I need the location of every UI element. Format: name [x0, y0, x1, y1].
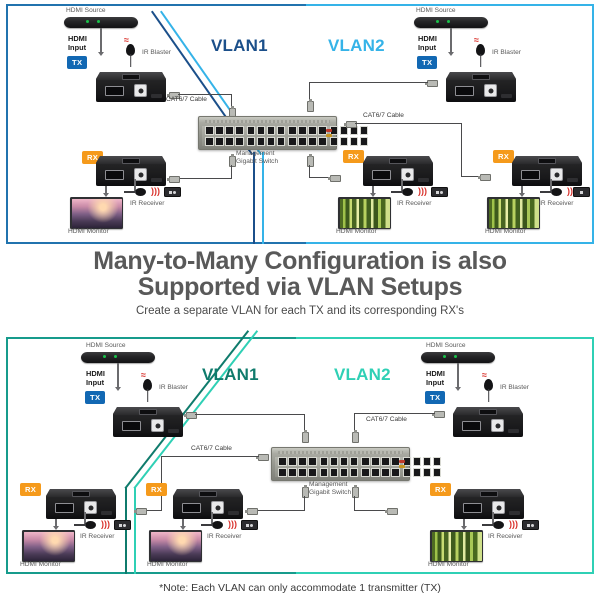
- hdmi-source-device: [421, 352, 495, 363]
- switch-port: [277, 137, 286, 146]
- cat-cable-connector-rx3: [480, 174, 491, 181]
- switch-port-group: [403, 457, 442, 477]
- hdmi-input-line2: Input: [86, 378, 104, 387]
- switch-port-group: [288, 126, 327, 146]
- hdmi-input-label: HDMI Input: [86, 369, 105, 387]
- switch-port-group: [320, 457, 359, 477]
- remote-key: [246, 524, 249, 527]
- cat-cable-wire-long: [355, 123, 461, 124]
- rx-extender-label-plate: [418, 178, 429, 182]
- ir-remote-icon: [431, 187, 448, 197]
- ir-blaster-label: IR Blaster: [492, 49, 521, 56]
- tx-extender-ir-jack: [484, 84, 497, 97]
- rx-badge: RX: [146, 483, 167, 496]
- hdmi-input-line2: Input: [68, 43, 86, 52]
- rx-extender-ir-port: [389, 158, 407, 164]
- rx-extender-ir-jack: [211, 501, 224, 514]
- hdmi-monitor-device: [338, 197, 391, 229]
- switch-label-line2: Gigabit Switch: [236, 158, 278, 165]
- tx-extender-hdmi-port: [455, 86, 474, 96]
- vlan1-label-top: VLAN1: [211, 36, 268, 56]
- rx-badge: RX: [343, 150, 364, 163]
- switch-port-row: [278, 457, 317, 466]
- cat-cable-wire-rx-drop: [304, 496, 305, 511]
- cat-cable-connector-rx3: [387, 508, 398, 515]
- monitor-screen: [340, 199, 390, 228]
- switch-port: [340, 137, 349, 146]
- ir-blaster-icon: [126, 44, 135, 56]
- rx-extender-label-plate: [509, 511, 520, 515]
- switch-vent: [205, 120, 330, 123]
- hdmi-input-arrow: [448, 52, 454, 56]
- ir-blaster-icon: [484, 379, 493, 391]
- switch-label: Management Gigabit Switch: [236, 150, 278, 166]
- vlan-divider-vertical-dark: [125, 487, 127, 574]
- ir-receiver-label: IR Receiver: [539, 200, 573, 207]
- vlan2-label-bottom: VLAN2: [334, 365, 391, 385]
- switch-port: [413, 457, 422, 466]
- tx-extender-ir-jack: [491, 419, 504, 432]
- tx-extender-label-plate: [168, 429, 179, 433]
- rx-extender-device: [363, 156, 433, 186]
- cat-cable-wire-rx3: [354, 510, 388, 511]
- tx-extender-ir-jack: [134, 84, 147, 97]
- ir-receiver-label: IR Receiver: [80, 533, 114, 540]
- cat-cable-connector-switch-3: [307, 101, 314, 112]
- switch-port-row: [247, 126, 286, 135]
- cat-cable-wire-long: [161, 456, 259, 457]
- hdmi-input-arrow: [115, 387, 121, 391]
- ir-remote-icon: [241, 520, 258, 530]
- hdmi-monitor-device: [487, 197, 540, 229]
- tx-extender-ir-port: [479, 409, 497, 415]
- switch-port: [215, 137, 224, 146]
- switch-port: [423, 468, 432, 477]
- hdmi-input-label: HDMI Input: [426, 369, 445, 387]
- tx-extender-ir-port: [122, 74, 140, 80]
- tx-extender-hdmi-port: [462, 421, 481, 431]
- cat-cable-wire-tx: [195, 414, 305, 415]
- hdmi-source-label: HDMI Source: [416, 7, 456, 14]
- hdmi-source-device: [414, 17, 488, 28]
- hdmi-monitor-label: HDMI Monitor: [68, 228, 109, 235]
- switch-port: [288, 137, 297, 146]
- ir-remote-icon: [164, 187, 181, 197]
- cat-cable-connector-rx2: [247, 508, 258, 515]
- switch-port: [330, 468, 339, 477]
- switch-port: [257, 137, 266, 146]
- switch-label-line1: Management: [236, 150, 275, 157]
- heading-subtitle: Create a separate VLAN for each TX and i…: [0, 305, 600, 317]
- rx-badge: RX: [20, 483, 41, 496]
- switch-port: [308, 126, 317, 135]
- monitor-screen: [24, 532, 74, 561]
- tx-badge: TX: [67, 56, 87, 69]
- tx-extender-ir-jack: [151, 419, 164, 432]
- ir-remote-icon: [114, 520, 131, 530]
- rx-extender-hdmi-port: [372, 170, 391, 180]
- remote-key: [527, 524, 530, 527]
- ir-receiver-icon: [493, 521, 504, 529]
- switch-port: [278, 468, 287, 477]
- ir-receiver-icon: [135, 188, 146, 196]
- remote-key: [250, 524, 253, 527]
- switch-port: [371, 468, 380, 477]
- heading-line1: Many-to-Many Configuration is also: [0, 248, 600, 274]
- monitor-screen: [432, 532, 482, 561]
- rx-extender-ir-port: [199, 491, 217, 497]
- bottom-diagram-panel: VLAN1 VLAN2 HDMI Source HDMI Input TX ≈ …: [6, 337, 594, 574]
- rx-extender-device: [96, 156, 166, 186]
- rx-extender-device: [512, 156, 582, 186]
- monitor-screen: [151, 532, 201, 561]
- switch-port: [288, 457, 297, 466]
- switch-port: [308, 468, 317, 477]
- cat-cable-connector-tx2: [434, 411, 445, 418]
- ir-blaster-label: IR Blaster: [500, 384, 529, 391]
- remote-key: [173, 191, 176, 194]
- switch-port: [298, 468, 307, 477]
- remote-key: [580, 191, 583, 194]
- rx-extender-ir-port: [122, 158, 140, 164]
- switch-port-row: [320, 457, 359, 466]
- switch-port: [298, 457, 307, 466]
- switch-port: [215, 126, 224, 135]
- ir-receiver-wave-icon: ))): [151, 187, 160, 196]
- remote-key: [440, 191, 443, 194]
- cat-cable-connector-rx2: [330, 175, 341, 182]
- hdmi-monitor-device: [22, 530, 75, 562]
- hdmi-input-line2: Input: [426, 378, 444, 387]
- switch-led-cluster: [326, 129, 332, 137]
- switch-port: [308, 457, 317, 466]
- gigabit-switch-device: [198, 116, 337, 150]
- switch-port: [288, 126, 297, 135]
- rx-extender-ir-jack: [134, 168, 147, 181]
- heading-block: Many-to-Many Configuration is also Suppo…: [0, 248, 600, 317]
- switch-port-row: [403, 468, 442, 477]
- rx-extender-hdmi-port: [463, 503, 482, 513]
- rx-badge: RX: [493, 150, 514, 163]
- hdmi-monitor-label: HDMI Monitor: [336, 228, 377, 235]
- tx-extender-label-plate: [508, 429, 519, 433]
- switch-led: [326, 134, 332, 137]
- hdmi-source-label: HDMI Source: [66, 7, 106, 14]
- hdmi-input-line1: HDMI: [68, 34, 87, 43]
- tx-extender-device: [113, 407, 183, 437]
- ir-receiver-wave-icon: ))): [509, 520, 518, 529]
- switch-port-row: [247, 137, 286, 146]
- rx-extender-ir-jack: [84, 501, 97, 514]
- rx-extender-device: [46, 489, 116, 519]
- tx-badge: TX: [85, 391, 105, 404]
- switch-port: [350, 137, 359, 146]
- ir-blaster-icon: [476, 44, 485, 56]
- cat-cable-wire-tx2: [309, 82, 428, 83]
- tx-badge: TX: [425, 391, 445, 404]
- cat-cable-label-1: CAT6/7 Cable: [166, 96, 207, 103]
- switch-port: [298, 137, 307, 146]
- ir-receiver-wave-icon: ))): [418, 187, 427, 196]
- switch-port-row: [320, 468, 359, 477]
- switch-port: [235, 126, 244, 135]
- ir-remote-icon: [522, 520, 539, 530]
- rx-extender-ir-jack: [401, 168, 414, 181]
- hdmi-input-line1: HDMI: [418, 34, 437, 43]
- heading-line2: Supported via VLAN Setups: [0, 274, 600, 300]
- hdmi-source-label: HDMI Source: [86, 342, 126, 349]
- switch-front-face: [202, 126, 333, 146]
- gigabit-switch-device: [271, 447, 410, 481]
- vlan1-label-bottom: VLAN1: [202, 365, 259, 385]
- switch-port: [267, 126, 276, 135]
- switch-port-row: [288, 126, 327, 135]
- switch-port: [205, 126, 214, 135]
- switch-label: Management Gigabit Switch: [309, 481, 351, 497]
- hdmi-input-wire: [457, 363, 459, 388]
- hdmi-source-label: HDMI Source: [426, 342, 466, 349]
- rx-extender-hdmi-port: [521, 170, 540, 180]
- monitor-screen: [489, 199, 539, 228]
- tx-extender-device: [453, 407, 523, 437]
- rx-extender-device: [454, 489, 524, 519]
- rx-extender-label-plate: [567, 178, 578, 182]
- ir-receiver-label: IR Receiver: [130, 200, 164, 207]
- ir-receiver-label: IR Receiver: [207, 533, 241, 540]
- switch-label-line1: Management: [309, 481, 348, 488]
- remote-key: [436, 191, 439, 194]
- hdmi-input-line1: HDMI: [426, 369, 445, 378]
- cat-cable-wire-tx2: [354, 413, 435, 414]
- switch-port-row: [361, 468, 400, 477]
- switch-port: [298, 126, 307, 135]
- hdmi-monitor-label: HDMI Monitor: [20, 561, 61, 568]
- ir-receiver-label: IR Receiver: [488, 533, 522, 540]
- rx-extender-ir-port: [538, 158, 556, 164]
- switch-port: [350, 457, 359, 466]
- ir-blaster-icon: [143, 379, 152, 391]
- rx-extender-label-plate: [228, 511, 239, 515]
- cat-cable-label-2: CAT6/7 Cable: [363, 112, 404, 119]
- switch-port: [360, 137, 369, 146]
- cat-cable-connector-long: [258, 454, 269, 461]
- vlan2-label-top: VLAN2: [328, 36, 385, 56]
- remote-key: [531, 524, 534, 527]
- switch-port: [340, 468, 349, 477]
- monitor-screen: [72, 199, 122, 228]
- hdmi-input-line2: Input: [418, 43, 436, 52]
- switch-port-row: [205, 137, 244, 146]
- ir-receiver-wave-icon: ))): [228, 520, 237, 529]
- switch-port: [288, 468, 297, 477]
- hdmi-input-label: HDMI Input: [68, 34, 87, 52]
- switch-port: [235, 137, 244, 146]
- hdmi-monitor-device: [149, 530, 202, 562]
- rx-extender-ir-jack: [550, 168, 563, 181]
- ir-blaster-label: IR Blaster: [159, 384, 188, 391]
- cat-cable-connector-switch-3: [352, 432, 359, 443]
- switch-port: [247, 126, 256, 135]
- switch-port: [360, 126, 369, 135]
- tx-extender-device: [96, 72, 166, 102]
- ir-remote-icon: [573, 187, 590, 197]
- switch-port-row: [330, 137, 369, 146]
- switch-vent: [278, 451, 403, 454]
- tx-extender-device: [446, 72, 516, 102]
- hdmi-input-arrow: [455, 387, 461, 391]
- switch-port: [340, 457, 349, 466]
- hdmi-input-wire: [100, 28, 102, 53]
- switch-front-face: [275, 457, 406, 477]
- switch-port: [361, 457, 370, 466]
- rx-badge: RX: [430, 483, 451, 496]
- switch-port: [433, 457, 442, 466]
- switch-port: [371, 457, 380, 466]
- rx-extender-hdmi-port: [182, 503, 201, 513]
- switch-port: [247, 137, 256, 146]
- hdmi-input-wire: [117, 363, 119, 388]
- switch-port-row: [361, 457, 400, 466]
- rx-extender-ir-jack: [492, 501, 505, 514]
- switch-port: [403, 468, 412, 477]
- switch-led: [326, 129, 332, 132]
- hdmi-monitor-device: [430, 530, 483, 562]
- ir-receiver-icon: [402, 188, 413, 196]
- switch-port: [330, 457, 339, 466]
- switch-port-group: [361, 457, 400, 477]
- vlan-divider-vertical-light: [134, 487, 136, 574]
- hdmi-monitor-label: HDMI Monitor: [428, 561, 469, 568]
- tx-extender-hdmi-port: [122, 421, 141, 431]
- cat-cable-wire-rx1-drop: [231, 165, 232, 179]
- ir-receiver-wave-icon: ))): [101, 520, 110, 529]
- hdmi-input-label: HDMI Input: [418, 34, 437, 52]
- switch-port: [308, 137, 317, 146]
- switch-port: [320, 457, 329, 466]
- hdmi-input-wire: [450, 28, 452, 53]
- remote-key: [169, 191, 172, 194]
- cat-cable-wire-long-drop: [461, 123, 462, 177]
- switch-port: [433, 468, 442, 477]
- switch-port: [320, 468, 329, 477]
- tx-extender-hdmi-port: [105, 86, 124, 96]
- rx-extender-hdmi-port: [105, 170, 124, 180]
- switch-port-group: [278, 457, 317, 477]
- rx-extender-hdmi-port: [55, 503, 74, 513]
- tx-extender-label-plate: [151, 94, 162, 98]
- hdmi-monitor-label: HDMI Monitor: [147, 561, 188, 568]
- rx-extender-label-plate: [101, 511, 112, 515]
- remote-key: [119, 524, 122, 527]
- cat-cable-connector-rx1: [169, 176, 180, 183]
- rx-extender-ir-port: [72, 491, 90, 497]
- cat-cable-label-2: CAT6/7 Cable: [366, 416, 407, 423]
- cat-cable-connector-tx2: [427, 80, 438, 87]
- hdmi-input-line1: HDMI: [86, 369, 105, 378]
- remote-key: [123, 524, 126, 527]
- switch-port: [205, 137, 214, 146]
- cat-cable-wire-long-2: [145, 510, 162, 511]
- switch-led: [399, 460, 405, 463]
- cat-cable-label-1: CAT6/7 Cable: [191, 445, 232, 452]
- switch-port-row: [403, 457, 442, 466]
- rx-extender-label-plate: [151, 178, 162, 182]
- switch-port: [413, 468, 422, 477]
- cat-cable-connector-rx1: [136, 508, 147, 515]
- switch-port: [381, 468, 390, 477]
- switch-port: [225, 126, 234, 135]
- switch-port: [278, 457, 287, 466]
- hdmi-source-device: [81, 352, 155, 363]
- hdmi-source-device: [64, 17, 138, 28]
- switch-port-row: [278, 468, 317, 477]
- tx-extender-ir-port: [139, 409, 157, 415]
- ir-receiver-icon: [551, 188, 562, 196]
- cat-cable-wire-rx: [256, 510, 305, 511]
- ir-receiver-icon: [212, 521, 223, 529]
- cat-cable-wire-rx3-drop: [354, 496, 355, 511]
- switch-led: [399, 465, 405, 468]
- ir-blaster-label: IR Blaster: [142, 49, 171, 56]
- cat-cable-wire-rx1: [178, 178, 232, 179]
- switch-port-row: [288, 137, 327, 146]
- ir-receiver-label: IR Receiver: [397, 200, 431, 207]
- hdmi-input-arrow: [98, 52, 104, 56]
- switch-port: [330, 137, 339, 146]
- switch-port: [277, 126, 286, 135]
- tx-extender-ir-port: [472, 74, 490, 80]
- switch-port: [318, 137, 327, 146]
- tx-extender-label-plate: [501, 94, 512, 98]
- rx-extender-device: [173, 489, 243, 519]
- switch-port-row: [205, 126, 244, 135]
- tx-badge: TX: [417, 56, 437, 69]
- cat-cable-connector-switch-1: [302, 432, 309, 443]
- switch-port: [350, 468, 359, 477]
- switch-port-group: [205, 126, 244, 146]
- switch-port: [381, 457, 390, 466]
- switch-led-cluster: [399, 460, 405, 468]
- switch-port: [257, 126, 266, 135]
- hdmi-monitor-label: HDMI Monitor: [485, 228, 526, 235]
- switch-port: [391, 468, 400, 477]
- switch-port: [267, 137, 276, 146]
- switch-port: [423, 457, 432, 466]
- switch-port: [225, 137, 234, 146]
- ir-receiver-icon: [85, 521, 96, 529]
- hdmi-monitor-device: [70, 197, 123, 229]
- footnote-text: *Note: Each VLAN can only accommodate 1 …: [0, 582, 600, 594]
- switch-label-line2: Gigabit Switch: [309, 489, 351, 496]
- rx-extender-ir-port: [480, 491, 498, 497]
- top-diagram-panel: VLAN1 VLAN2 HDMI Source HDMI Input TX ≈ …: [6, 4, 594, 244]
- switch-port-group: [247, 126, 286, 146]
- switch-port: [361, 468, 370, 477]
- switch-port-group: [330, 126, 369, 146]
